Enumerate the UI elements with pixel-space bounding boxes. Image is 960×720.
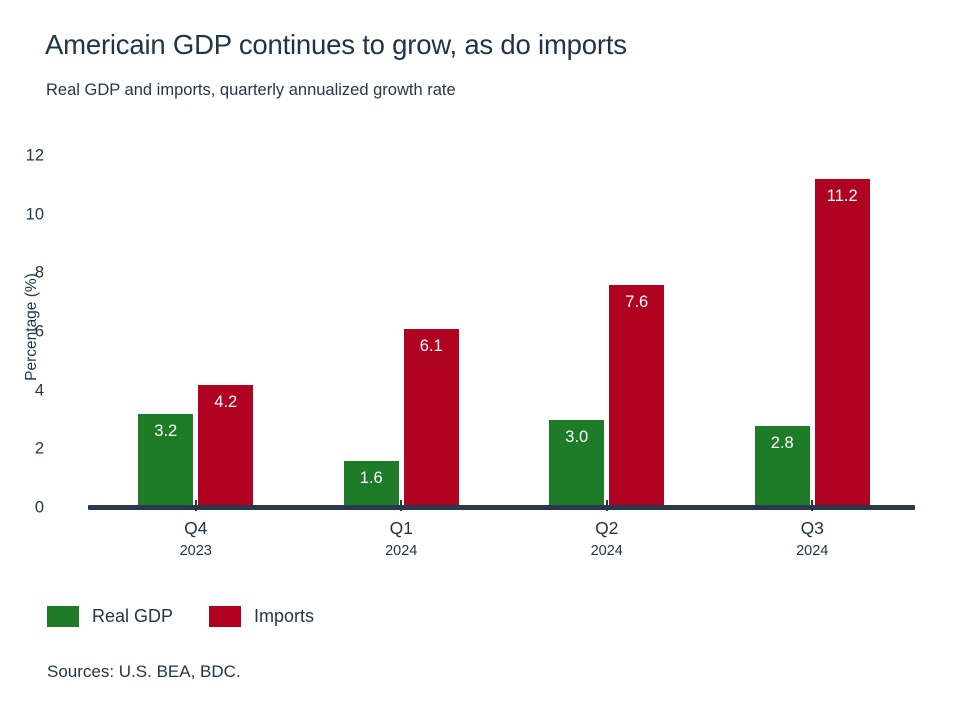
legend-entry-gdp[interactable]: Real GDP (47, 606, 173, 627)
x-axis-label-q4-2023: Q42023 (116, 518, 276, 560)
bar-imports-q2-2024[interactable]: 7.6 (609, 285, 664, 508)
chart-subtitle: Real GDP and imports, quarterly annualiz… (46, 81, 456, 100)
plot-area: 3.24.21.66.13.07.62.811.2 (93, 156, 915, 508)
bar-value-label: 2.8 (755, 435, 810, 452)
y-axis-tick-12: 12 (10, 147, 44, 166)
chart-legend: Real GDPImports (47, 606, 314, 627)
x-axis-tick-mark (195, 500, 197, 511)
legend-entry-imports[interactable]: Imports (209, 606, 314, 627)
x-axis-baseline (88, 505, 915, 510)
page-title: Americain GDP continues to grow, as do i… (45, 29, 627, 61)
x-axis-quarter: Q2 (527, 518, 687, 540)
bar-gdp-q2-2024[interactable]: 3.0 (549, 420, 604, 508)
y-axis-tick-6: 6 (10, 323, 44, 342)
bar-value-label: 3.0 (549, 429, 604, 446)
bar-value-label: 11.2 (815, 188, 870, 205)
y-axis-tick-0: 0 (10, 499, 44, 518)
y-axis-tick-10: 10 (10, 205, 44, 224)
bar-value-label: 4.2 (198, 394, 253, 411)
bar-value-label: 1.6 (344, 470, 399, 487)
bar-gdp-q4-2023[interactable]: 3.2 (138, 414, 193, 508)
bar-value-label: 6.1 (404, 338, 459, 355)
x-axis-year: 2024 (732, 543, 892, 560)
x-axis-year: 2023 (116, 543, 276, 560)
legend-label-imports: Imports (254, 606, 314, 627)
x-axis-label-q3-2024: Q32024 (732, 518, 892, 560)
y-axis-tick-4: 4 (10, 381, 44, 400)
x-axis-year: 2024 (321, 543, 481, 560)
bar-imports-q3-2024[interactable]: 11.2 (815, 179, 870, 508)
x-axis-quarter: Q3 (732, 518, 892, 540)
x-axis-tick-mark (811, 500, 813, 511)
legend-swatch-imports (209, 606, 241, 627)
x-axis-tick-mark (400, 500, 402, 511)
x-axis-year: 2024 (527, 543, 687, 560)
bar-imports-q1-2024[interactable]: 6.1 (404, 329, 459, 508)
bar-value-label: 7.6 (609, 294, 664, 311)
x-axis-label-q2-2024: Q22024 (527, 518, 687, 560)
x-axis-tick-mark (606, 500, 608, 511)
bar-gdp-q3-2024[interactable]: 2.8 (755, 426, 810, 508)
x-axis-quarter: Q1 (321, 518, 481, 540)
y-axis-tick-2: 2 (10, 440, 44, 459)
bar-gdp-q1-2024[interactable]: 1.6 (344, 461, 399, 508)
legend-swatch-gdp (47, 606, 79, 627)
source-note: Sources: U.S. BEA, BDC. (47, 662, 241, 682)
bar-imports-q4-2023[interactable]: 4.2 (198, 385, 253, 508)
x-axis-quarter: Q4 (116, 518, 276, 540)
x-axis-label-q1-2024: Q12024 (321, 518, 481, 560)
legend-label-gdp: Real GDP (92, 606, 173, 627)
bar-value-label: 3.2 (138, 423, 193, 440)
y-axis-tick-8: 8 (10, 264, 44, 283)
